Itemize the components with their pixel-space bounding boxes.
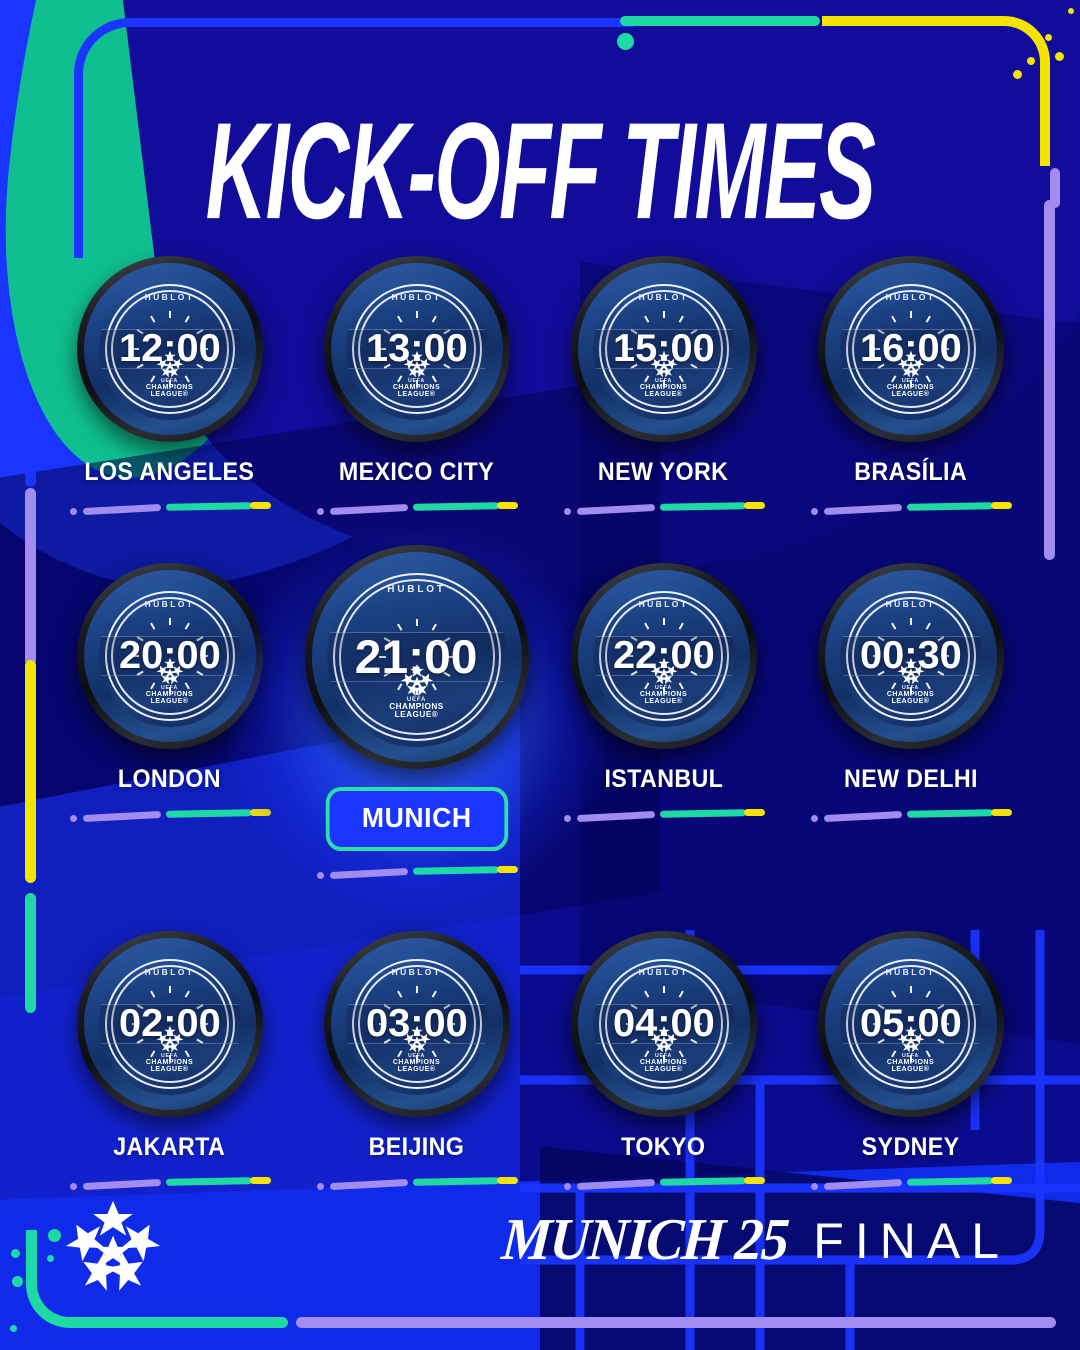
watch-brand-text: HUBLOT (593, 599, 735, 609)
underline-dot (564, 815, 571, 822)
city-label: NEW YORK (598, 458, 728, 487)
watch-case: HUBLOT03:00UEFACHAMPIONSLEAGUE® (324, 931, 510, 1117)
starball-icon (155, 349, 185, 379)
champions-league-word: CHAMPIONSLEAGUE® (389, 703, 444, 720)
underline-purple (823, 811, 901, 822)
watch-bezel: HUBLOT20:00UEFACHAMPIONSLEAGUE® (84, 570, 256, 742)
poster-canvas: KICK-OFF TIMES HUBLOT12:00UEFACHAMPIONSL… (0, 0, 1080, 1350)
underline-dot (811, 508, 818, 515)
watch-dial: HUBLOT00:30UEFACHAMPIONSLEAGUE® (840, 585, 982, 727)
city-label: ISTANBUL (604, 765, 723, 794)
label-underline-decoration (811, 808, 1011, 822)
watch-brand-text: HUBLOT (593, 292, 735, 302)
right-purple-bar (1044, 200, 1055, 560)
hublot-watch[interactable]: HUBLOT21:00UEFACHAMPIONSLEAGUE® (305, 545, 529, 769)
city-label: BEIJING (369, 1133, 465, 1162)
underline-dot (70, 1183, 77, 1190)
watch-brand-text: HUBLOT (99, 292, 241, 302)
clock-cell-munich: HUBLOT21:00UEFACHAMPIONSLEAGUE®MUNICH (293, 563, 540, 879)
underline-yellow (250, 502, 271, 509)
underline-dot (564, 508, 571, 515)
label-underline-decoration (317, 501, 517, 515)
underline-teal (659, 1177, 745, 1185)
watch-bezel: HUBLOT13:00UEFACHAMPIONSLEAGUE® (331, 263, 503, 435)
starball-icon (896, 349, 926, 379)
starball-icon (155, 656, 185, 686)
watch-dial: HUBLOT20:00UEFACHAMPIONSLEAGUE® (99, 585, 241, 727)
teal-dot (617, 33, 634, 50)
uefa-champions-league-starball-icon (66, 1198, 160, 1292)
champions-league-mark: UEFACHAMPIONSLEAGUE® (840, 1024, 982, 1074)
champions-league-mark: UEFACHAMPIONSLEAGUE® (346, 349, 488, 399)
underline-teal (165, 502, 251, 510)
watch-bezel: HUBLOT12:00UEFACHAMPIONSLEAGUE® (84, 263, 256, 435)
hublot-watch[interactable]: HUBLOT04:00UEFACHAMPIONSLEAGUE® (571, 931, 757, 1117)
right-purple-stub (1050, 168, 1060, 208)
watch-bezel: HUBLOT21:00UEFACHAMPIONSLEAGUE® (312, 552, 522, 762)
yellow-dot (1068, 8, 1074, 14)
underline-purple (82, 1179, 160, 1190)
city-label: LONDON (118, 765, 221, 794)
clock-cell-jakarta: HUBLOT02:00UEFACHAMPIONSLEAGUE®JAKARTA (46, 931, 293, 1190)
label-underline-decoration (317, 1176, 517, 1190)
underline-dot (811, 815, 818, 822)
hublot-watch[interactable]: HUBLOT13:00UEFACHAMPIONSLEAGUE® (324, 256, 510, 442)
underline-purple (82, 504, 160, 515)
footer-brand-lockup: MUNICH 25 FINAL (502, 1208, 1010, 1272)
label-underline-decoration (70, 501, 270, 515)
underline-dot (564, 1183, 571, 1190)
yellow-dot (1013, 70, 1022, 79)
watch-dial: HUBLOT04:00UEFACHAMPIONSLEAGUE® (593, 953, 735, 1095)
underline-yellow (497, 502, 518, 509)
left-yellow-bar (25, 660, 36, 883)
label-underline-decoration (70, 808, 270, 822)
underline-teal (412, 502, 498, 510)
watch-brand-text: HUBLOT (840, 292, 982, 302)
starball-icon (402, 1024, 432, 1054)
watch-case: HUBLOT20:00UEFACHAMPIONSLEAGUE® (77, 563, 263, 749)
clock-cell-los-angeles: HUBLOT12:00UEFACHAMPIONSLEAGUE®LOS ANGEL… (46, 256, 293, 515)
underline-purple (329, 1179, 407, 1190)
hublot-watch[interactable]: HUBLOT03:00UEFACHAMPIONSLEAGUE® (324, 931, 510, 1117)
champions-league-word: CHAMPIONSLEAGUE® (640, 691, 687, 706)
champions-league-mark: UEFACHAMPIONSLEAGUE® (99, 656, 241, 706)
underline-purple (82, 811, 160, 822)
bottom-teal-segment (268, 1317, 288, 1328)
watch-case: HUBLOT15:00UEFACHAMPIONSLEAGUE® (571, 256, 757, 442)
underline-yellow (991, 1177, 1012, 1184)
champions-league-mark: UEFACHAMPIONSLEAGUE® (840, 349, 982, 399)
starball-icon (402, 349, 432, 379)
underline-teal (165, 1177, 251, 1185)
watch-bezel: HUBLOT02:00UEFACHAMPIONSLEAGUE® (84, 938, 256, 1110)
clock-cell-bras-lia: HUBLOT16:00UEFACHAMPIONSLEAGUE®BRASÍLIA (787, 256, 1034, 515)
hublot-watch[interactable]: HUBLOT22:00UEFACHAMPIONSLEAGUE® (571, 563, 757, 749)
bottom-purple-segment (296, 1317, 1056, 1328)
underline-yellow (744, 809, 765, 816)
watch-case: HUBLOT21:00UEFACHAMPIONSLEAGUE® (305, 545, 529, 769)
underline-purple (823, 504, 901, 515)
underline-teal (906, 809, 992, 817)
page-title: KICK-OFF TIMES (97, 94, 983, 251)
underline-teal (165, 809, 251, 817)
underline-teal (906, 1177, 992, 1185)
underline-purple (329, 504, 407, 515)
label-underline-decoration (811, 1176, 1011, 1190)
starball-icon (649, 349, 679, 379)
watch-dial: HUBLOT02:00UEFACHAMPIONSLEAGUE® (99, 953, 241, 1095)
underline-teal (659, 502, 745, 510)
watch-brand-text: HUBLOT (840, 599, 982, 609)
watch-bezel: HUBLOT04:00UEFACHAMPIONSLEAGUE® (578, 938, 750, 1110)
yellow-dot (1045, 34, 1052, 41)
underline-purple (329, 868, 407, 879)
champions-league-word: CHAMPIONSLEAGUE® (640, 384, 687, 399)
watch-dial: HUBLOT15:00UEFACHAMPIONSLEAGUE® (593, 278, 735, 420)
top-teal-bar (620, 16, 820, 26)
underline-dot (317, 872, 324, 879)
yellow-dot (1027, 57, 1035, 65)
city-label: BRASÍLIA (854, 458, 967, 487)
underline-yellow (991, 809, 1012, 816)
underline-yellow (497, 1177, 518, 1184)
label-underline-decoration (564, 1176, 764, 1190)
city-label: NEW DELHI (844, 765, 978, 794)
city-label: SYDNEY (862, 1133, 960, 1162)
city-label: MEXICO CITY (339, 458, 494, 487)
underline-purple (576, 1179, 654, 1190)
watch-case: HUBLOT04:00UEFACHAMPIONSLEAGUE® (571, 931, 757, 1117)
champions-league-word: CHAMPIONSLEAGUE® (887, 1059, 934, 1074)
champions-league-mark: UEFACHAMPIONSLEAGUE® (593, 656, 735, 706)
underline-yellow (497, 866, 518, 873)
champions-league-word: CHAMPIONSLEAGUE® (640, 1059, 687, 1074)
underline-dot (811, 1183, 818, 1190)
watch-dial: HUBLOT22:00UEFACHAMPIONSLEAGUE® (593, 585, 735, 727)
starball-icon (155, 1024, 185, 1054)
clock-cell-london: HUBLOT20:00UEFACHAMPIONSLEAGUE®LONDON (46, 563, 293, 879)
underline-dot (317, 1183, 324, 1190)
watch-brand-text: HUBLOT (327, 584, 507, 595)
event-stage: FINAL (813, 1212, 1010, 1270)
hublot-watch[interactable]: HUBLOT16:00UEFACHAMPIONSLEAGUE® (818, 256, 1004, 442)
hublot-watch[interactable]: HUBLOT12:00UEFACHAMPIONSLEAGUE® (77, 256, 263, 442)
champions-league-word: CHAMPIONSLEAGUE® (146, 384, 193, 399)
label-underline-decoration (70, 1176, 270, 1190)
underline-dot (70, 815, 77, 822)
champions-league-word: CHAMPIONSLEAGUE® (887, 691, 934, 706)
champions-league-mark: UEFACHAMPIONSLEAGUE® (346, 1024, 488, 1074)
watch-case: HUBLOT16:00UEFACHAMPIONSLEAGUE® (818, 256, 1004, 442)
watch-dial: HUBLOT03:00UEFACHAMPIONSLEAGUE® (346, 953, 488, 1095)
watch-brand-text: HUBLOT (99, 967, 241, 977)
clock-cell-beijing: HUBLOT03:00UEFACHAMPIONSLEAGUE®BEIJING (293, 931, 540, 1190)
underline-purple (823, 1179, 901, 1190)
champions-league-word: CHAMPIONSLEAGUE® (393, 384, 440, 399)
watch-brand-text: HUBLOT (99, 599, 241, 609)
hublot-watch[interactable]: HUBLOT05:00UEFACHAMPIONSLEAGUE® (818, 931, 1004, 1117)
underline-yellow (744, 1177, 765, 1184)
watch-bezel: HUBLOT15:00UEFACHAMPIONSLEAGUE® (578, 263, 750, 435)
watch-brand-text: HUBLOT (840, 967, 982, 977)
hublot-watch[interactable]: HUBLOT02:00UEFACHAMPIONSLEAGUE® (77, 931, 263, 1117)
city-label: LOS ANGELES (85, 458, 255, 487)
left-blue-bar (25, 455, 36, 487)
champions-league-mark: UEFACHAMPIONSLEAGUE® (593, 1024, 735, 1074)
clock-cell-istanbul: HUBLOT22:00UEFACHAMPIONSLEAGUE®ISTANBUL (540, 563, 787, 879)
starball-icon (649, 656, 679, 686)
underline-yellow (991, 502, 1012, 509)
underline-yellow (250, 1177, 271, 1184)
champions-league-mark: UEFACHAMPIONSLEAGUE® (99, 1024, 241, 1074)
underline-teal (906, 502, 992, 510)
clock-cell-mexico-city: HUBLOT13:00UEFACHAMPIONSLEAGUE®MEXICO CI… (293, 256, 540, 515)
champions-league-word: CHAMPIONSLEAGUE® (887, 384, 934, 399)
left-purple-bar (25, 488, 36, 666)
label-underline-decoration (564, 808, 764, 822)
watch-case: HUBLOT13:00UEFACHAMPIONSLEAGUE® (324, 256, 510, 442)
watch-bezel: HUBLOT03:00UEFACHAMPIONSLEAGUE® (331, 938, 503, 1110)
watch-brand-text: HUBLOT (593, 967, 735, 977)
champions-league-word: CHAMPIONSLEAGUE® (393, 1059, 440, 1074)
champions-league-word: CHAMPIONSLEAGUE® (146, 1059, 193, 1074)
city-label: JAKARTA (114, 1133, 226, 1162)
underline-dot (317, 508, 324, 515)
underline-dot (70, 508, 77, 515)
watch-dial: HUBLOT13:00UEFACHAMPIONSLEAGUE® (346, 278, 488, 420)
footer: MUNICH 25 FINAL (0, 1190, 1080, 1310)
hublot-watch[interactable]: HUBLOT20:00UEFACHAMPIONSLEAGUE® (77, 563, 263, 749)
city-label-pill[interactable]: MUNICH (325, 787, 507, 851)
clock-cell-new-york: HUBLOT15:00UEFACHAMPIONSLEAGUE®NEW YORK (540, 256, 787, 515)
starball-icon (896, 1024, 926, 1054)
label-underline-decoration (317, 865, 517, 879)
clock-cell-sydney: HUBLOT05:00UEFACHAMPIONSLEAGUE®SYDNEY (787, 931, 1034, 1190)
teal-dot (10, 1325, 17, 1332)
watch-dial: HUBLOT21:00UEFACHAMPIONSLEAGUE® (327, 567, 507, 747)
watch-case: HUBLOT05:00UEFACHAMPIONSLEAGUE® (818, 931, 1004, 1117)
watch-case: HUBLOT02:00UEFACHAMPIONSLEAGUE® (77, 931, 263, 1117)
champions-league-word: CHAMPIONSLEAGUE® (146, 691, 193, 706)
underline-teal (659, 809, 745, 817)
watch-dial: HUBLOT12:00UEFACHAMPIONSLEAGUE® (99, 278, 241, 420)
underline-teal (412, 1177, 498, 1185)
watch-bezel: HUBLOT05:00UEFACHAMPIONSLEAGUE® (825, 938, 997, 1110)
underline-purple (576, 504, 654, 515)
watch-dial: HUBLOT05:00UEFACHAMPIONSLEAGUE® (840, 953, 982, 1095)
label-underline-decoration (811, 501, 1011, 515)
starball-icon (649, 1024, 679, 1054)
event-name: MUNICH 25 (500, 1206, 790, 1274)
yellow-dot (1055, 52, 1064, 61)
watch-brand-text: HUBLOT (346, 292, 488, 302)
hublot-watch[interactable]: HUBLOT15:00UEFACHAMPIONSLEAGUE® (571, 256, 757, 442)
underline-teal (412, 866, 498, 874)
watch-brand-text: HUBLOT (346, 967, 488, 977)
clock-grid: HUBLOT12:00UEFACHAMPIONSLEAGUE®LOS ANGEL… (46, 256, 1034, 1190)
underline-yellow (744, 502, 765, 509)
hublot-watch[interactable]: HUBLOT00:30UEFACHAMPIONSLEAGUE® (818, 563, 1004, 749)
starball-icon (896, 656, 926, 686)
watch-case: HUBLOT12:00UEFACHAMPIONSLEAGUE® (77, 256, 263, 442)
watch-dial: HUBLOT16:00UEFACHAMPIONSLEAGUE® (840, 278, 982, 420)
city-label: TOKYO (621, 1133, 705, 1162)
watch-bezel: HUBLOT16:00UEFACHAMPIONSLEAGUE® (825, 263, 997, 435)
champions-league-mark: UEFACHAMPIONSLEAGUE® (327, 662, 507, 720)
champions-league-mark: UEFACHAMPIONSLEAGUE® (593, 349, 735, 399)
watch-bezel: HUBLOT22:00UEFACHAMPIONSLEAGUE® (578, 570, 750, 742)
label-underline-decoration (564, 501, 764, 515)
left-teal-bar (25, 893, 36, 1013)
clock-cell-new-delhi: HUBLOT00:30UEFACHAMPIONSLEAGUE®NEW DELHI (787, 563, 1034, 879)
starball-icon (399, 662, 435, 698)
underline-yellow (250, 809, 271, 816)
watch-case: HUBLOT22:00UEFACHAMPIONSLEAGUE® (571, 563, 757, 749)
champions-league-mark: UEFACHAMPIONSLEAGUE® (99, 349, 241, 399)
watch-bezel: HUBLOT00:30UEFACHAMPIONSLEAGUE® (825, 570, 997, 742)
clock-cell-tokyo: HUBLOT04:00UEFACHAMPIONSLEAGUE®TOKYO (540, 931, 787, 1190)
underline-purple (576, 811, 654, 822)
watch-case: HUBLOT00:30UEFACHAMPIONSLEAGUE® (818, 563, 1004, 749)
champions-league-mark: UEFACHAMPIONSLEAGUE® (840, 656, 982, 706)
